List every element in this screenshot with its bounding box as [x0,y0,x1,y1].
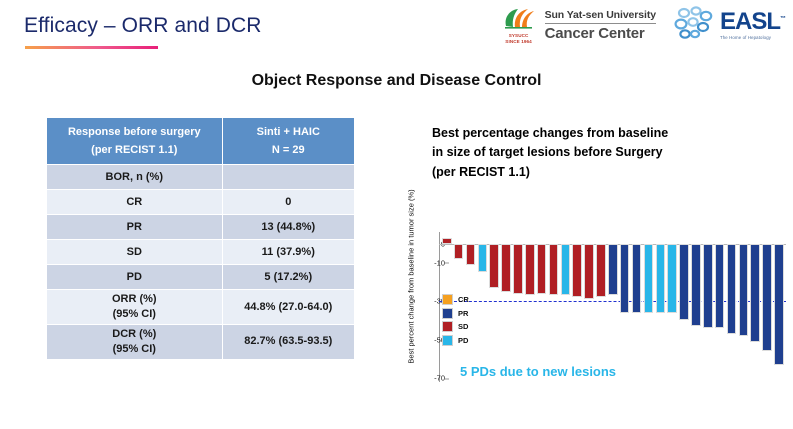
legend-label: PD [458,336,468,345]
table-body: BOR, n (%) CR 0 PR 13 (44.8%) SD 11 (37.… [47,165,355,359]
sysucc-since: SINCE 1964 [505,39,532,45]
table-header-response-line1: Response before surgery [68,126,201,138]
easl-logo: EASL™ The Home of Hepatology [672,6,785,45]
table-header-arm: Sinti + HAIC N = 29 [222,118,354,165]
table-header-arm-line1: Sinti + HAIC [257,126,320,138]
waterfall-bar [537,244,547,294]
sysucc-center-name: Cancer Center [545,26,656,41]
sysucc-wordmark: Sun Yat-sen University Cancer Center [545,10,656,41]
waterfall-bar [739,244,749,336]
legend-item: SD [442,321,469,332]
legend-label: PR [458,309,468,318]
table-row: ORR (%) (95% CI) 44.8% (27.0-64.0) [47,290,355,325]
waterfall-bar [561,244,571,296]
row-label: SD [47,240,223,265]
sysucc-university-name: Sun Yat-sen University [545,10,656,21]
waterfall-bar [513,244,523,294]
legend-swatch [442,321,453,332]
waterfall-bar [620,244,630,313]
page-title: Efficacy – ORR and DCR [24,14,262,38]
sysucc-divider [545,23,656,24]
chart-title: Best percentage changes from baseline in… [432,124,782,182]
table-head: Response before surgery (per RECIST 1.1)… [47,118,355,165]
waterfall-bar [489,244,499,288]
legend-item: PD [442,335,469,346]
easl-tagline: The Home of Hepatology [720,36,771,40]
chart-title-line2: in size of target lesions before Surgery [432,143,782,162]
table-header-response: Response before surgery (per RECIST 1.1) [47,118,223,165]
efficacy-table: Response before surgery (per RECIST 1.1)… [46,117,355,360]
y-axis-label: Best percent change from baseline in tum… [407,172,416,382]
legend-swatch [442,294,453,305]
legend-swatch [442,335,453,346]
title-underline-rule [25,46,158,49]
row-label-line2: (95% CI) [51,342,218,357]
waterfall-bar [679,244,689,321]
sysucc-logo: SYSUCC SINCE 1964 Sun Yat-sen University… [499,7,656,44]
row-label: BOR, n (%) [47,165,223,190]
waterfall-bar [501,244,511,292]
chart-title-line3: (per RECIST 1.1) [432,163,782,182]
waterfall-bar [644,244,654,313]
y-axis-line [439,232,440,382]
waterfall-bar [632,244,642,313]
legend-item: CR [442,294,469,305]
easl-name-text: EASL [720,8,780,35]
table-row: SD 11 (37.9%) [47,240,355,265]
row-label: DCR (%) (95% CI) [47,324,223,359]
row-value: 82.7% (63.5-93.5) [222,324,354,359]
row-value: 13 (44.8%) [222,215,354,240]
waterfall-bar [549,244,559,296]
waterfall-bar [525,244,535,296]
waterfall-bar [750,244,760,342]
table-row: DCR (%) (95% CI) 82.7% (63.5-93.5) [47,324,355,359]
table-row: PD 5 (17.2%) [47,265,355,290]
easl-name: EASL™ [720,10,785,34]
table-row: CR 0 [47,190,355,215]
row-label: ORR (%) (95% CI) [47,290,223,325]
legend-label: SD [458,322,468,331]
easl-cells-icon [672,6,718,45]
row-label: PD [47,265,223,290]
waterfall-bar [442,238,452,244]
chart-legend: CRPRSDPD [442,294,469,348]
legend-item: PR [442,308,469,319]
waterfall-bar [572,244,582,298]
table-row: PR 13 (44.8%) [47,215,355,240]
table-header-arm-line2: N = 29 [227,141,350,159]
waterfall-bar [715,244,725,329]
waterfall-bar [608,244,618,296]
row-label: CR [47,190,223,215]
waterfall-bar [478,244,488,273]
easl-trademark: ™ [780,16,785,22]
slide: Efficacy – ORR and DCR SYSUCC SINCE 1964… [0,0,793,429]
waterfall-bar [466,244,476,265]
easl-wordmark: EASL™ The Home of Hepatology [720,10,785,40]
row-value: 44.8% (27.0-64.0) [222,290,354,325]
legend-swatch [442,308,453,319]
row-value: 0 [222,190,354,215]
row-label-line1: DCR (%) [112,328,156,340]
table-row: BOR, n (%) [47,165,355,190]
waterfall-bar [584,244,594,300]
pd-annotation: 5 PDs due to new lesions [460,364,616,379]
waterfall-bar [596,244,606,298]
table-header-row: Response before surgery (per RECIST 1.1)… [47,118,355,165]
row-value [222,165,354,190]
waterfall-bar [667,244,677,313]
waterfall-bar [691,244,701,327]
waterfall-bar [656,244,666,313]
waterfall-chart-panel: Best percentage changes from baseline in… [398,124,790,419]
waterfall-bar [774,244,784,365]
row-label-line1: ORR (%) [112,293,157,305]
waterfall-bar [727,244,737,334]
row-value: 11 (37.9%) [222,240,354,265]
waterfall-bars [442,232,786,382]
waterfall-bar [703,244,713,329]
table-header-response-line2: (per RECIST 1.1) [51,141,218,159]
section-heading: Object Response and Disease Control [0,72,793,90]
sysucc-emblem-icon: SYSUCC SINCE 1964 [499,7,539,44]
legend-label: CR [458,295,469,304]
logo-group: SYSUCC SINCE 1964 Sun Yat-sen University… [499,6,785,45]
chart-plot-area: 0-10-30-50-70 [420,232,786,382]
chart-title-line1: Best percentage changes from baseline [432,124,782,143]
waterfall-bar [762,244,772,352]
row-value: 5 (17.2%) [222,265,354,290]
row-label-line2: (95% CI) [51,307,218,322]
waterfall-bar [454,244,464,259]
row-label: PR [47,215,223,240]
